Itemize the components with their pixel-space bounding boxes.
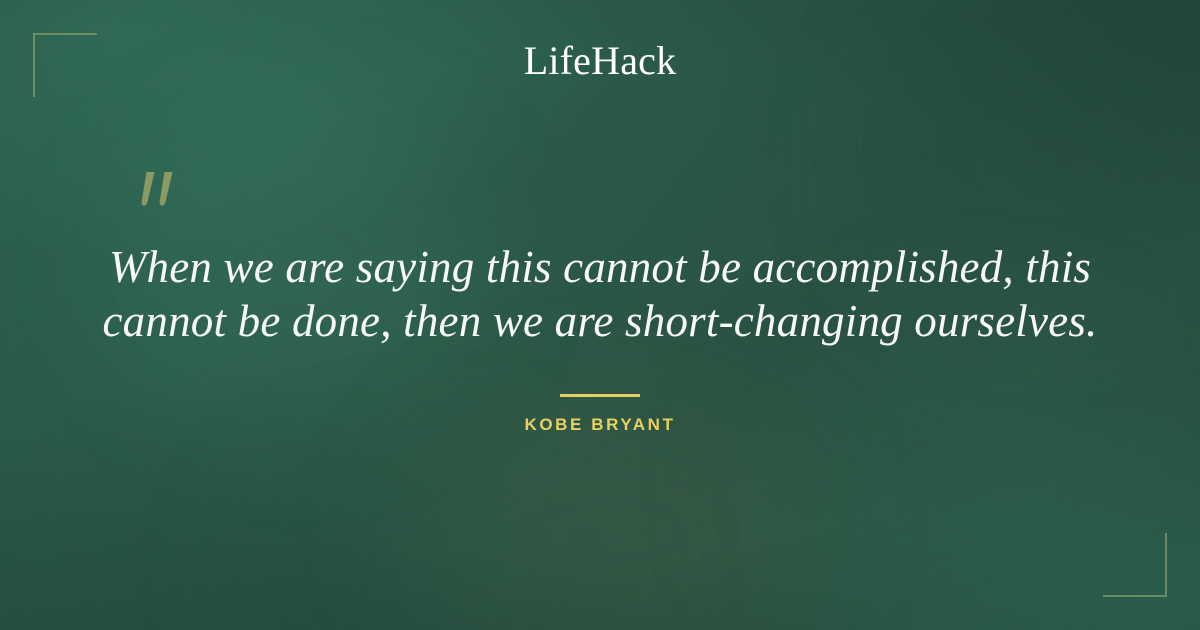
- quote-text: When we are saying this cannot be accomp…: [100, 240, 1100, 348]
- divider-container: [0, 384, 1200, 402]
- gold-divider: [560, 394, 640, 397]
- double-quote-icon: [134, 169, 188, 219]
- lifehack-logo: LifeHack: [0, 41, 1200, 81]
- quote-line: cannot be done, then we are short-changi…: [100, 294, 1100, 348]
- quote-author: KOBE BRYANT: [0, 414, 1200, 436]
- quote-card: LifeHack When we are saying this cannot …: [0, 0, 1200, 630]
- quote-line: When we are saying this cannot be accomp…: [100, 240, 1100, 294]
- corner-bracket-bottom-right-icon: [1103, 533, 1167, 597]
